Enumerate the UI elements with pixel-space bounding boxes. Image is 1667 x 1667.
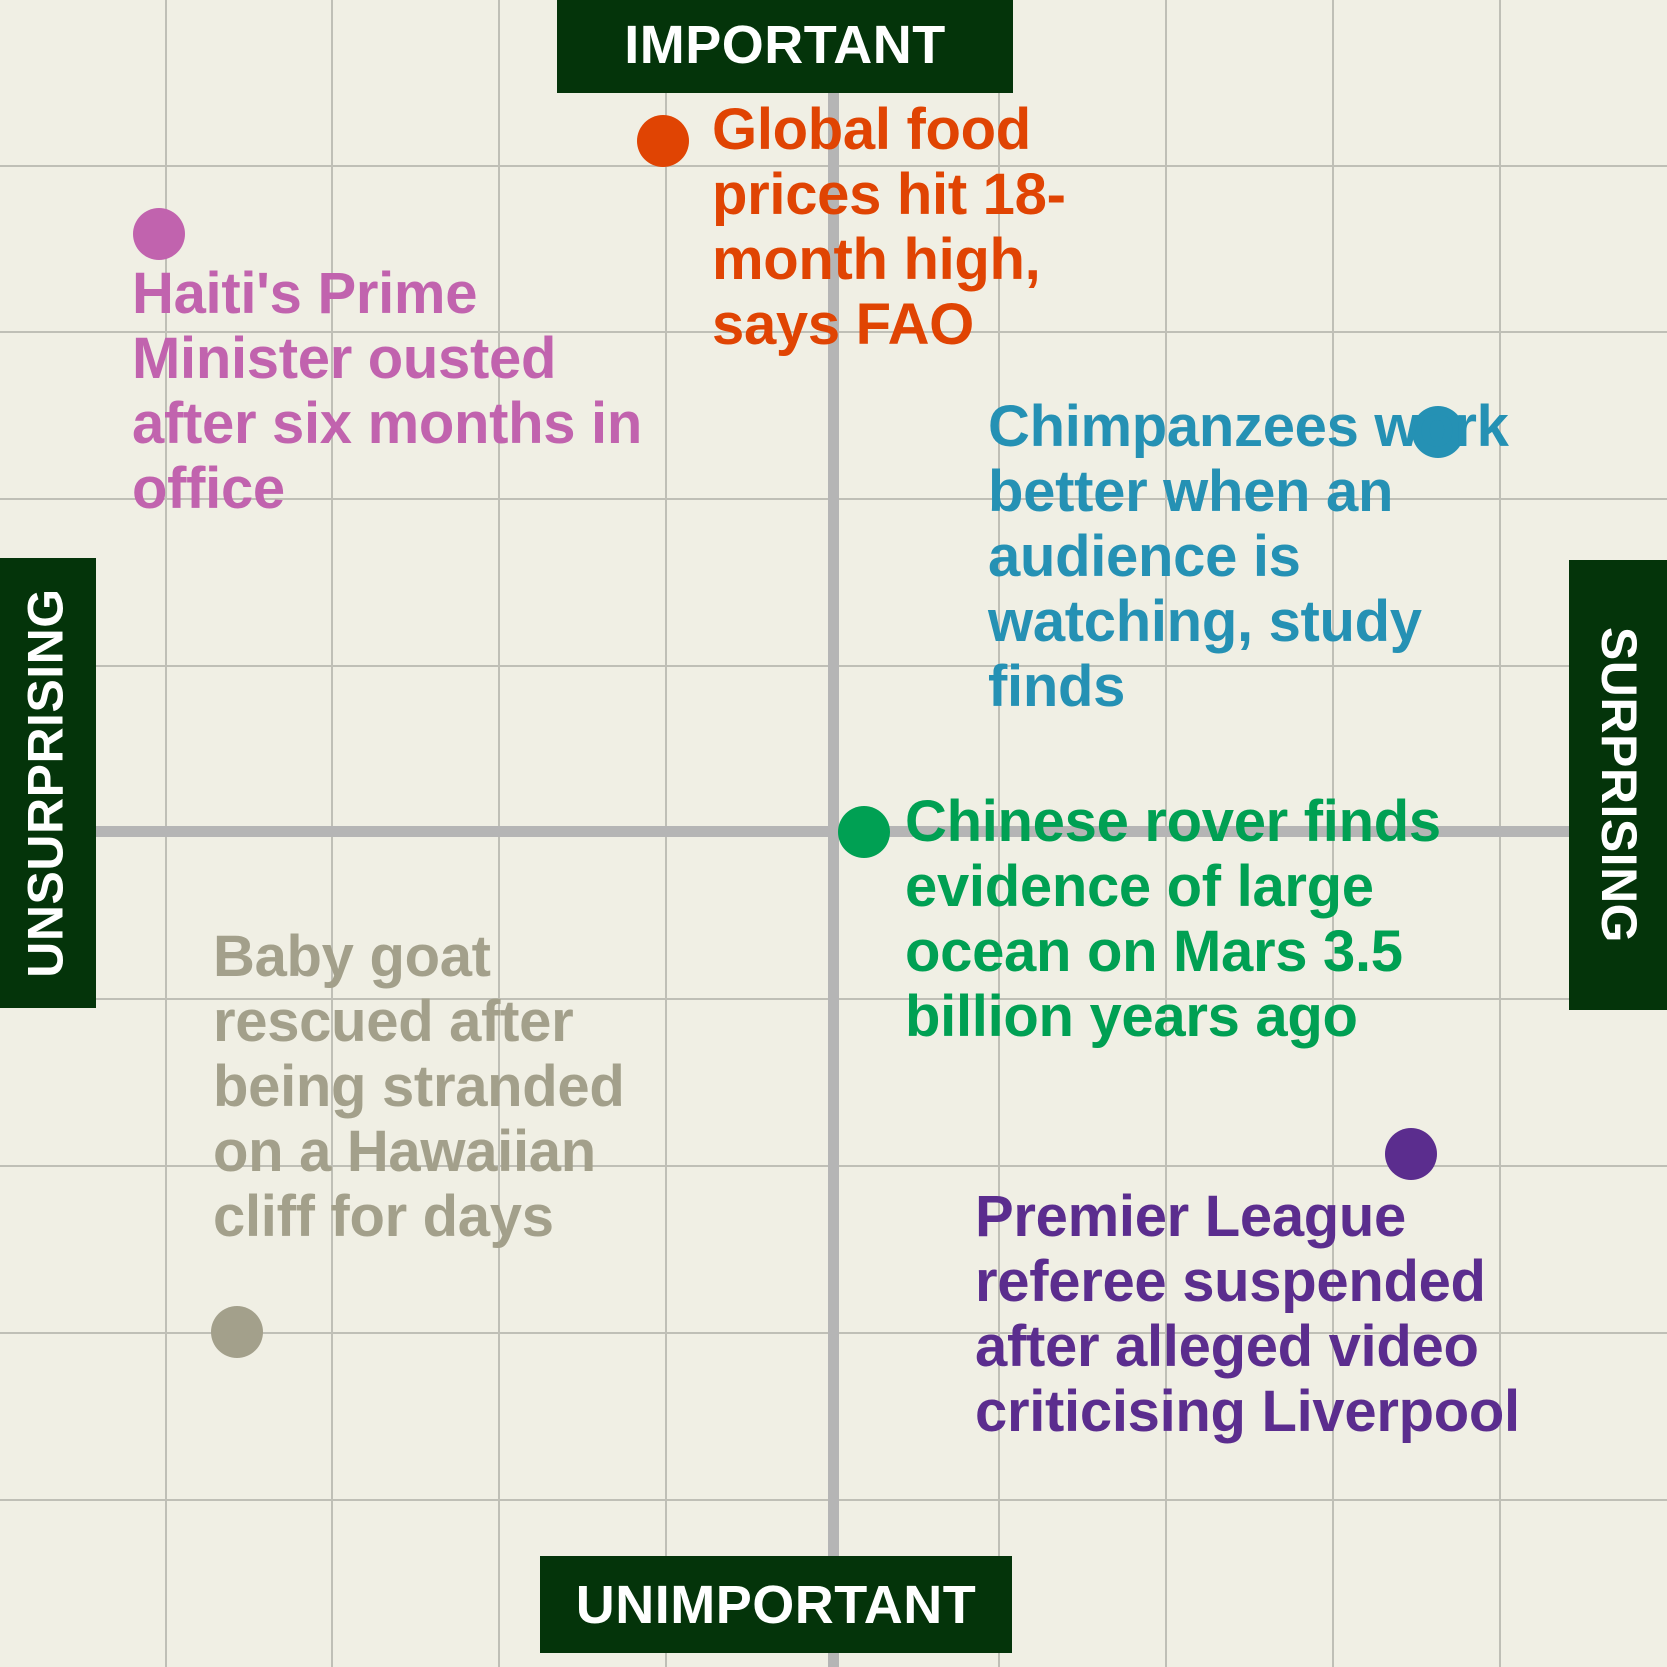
data-point-label-chimpanzees[interactable]: Chimpanzees work better when an audience… bbox=[988, 395, 1528, 720]
headline-text: Premier League referee suspended after a… bbox=[975, 1185, 1585, 1445]
data-point-label-baby-goat[interactable]: Baby goat rescued after being stranded o… bbox=[213, 925, 683, 1250]
gridline-vertical bbox=[498, 0, 500, 1667]
gridline-vertical bbox=[665, 0, 667, 1667]
axis-label-important: IMPORTANT bbox=[557, 0, 1013, 93]
axis-label-unsurprising-text: UNSURPRISING bbox=[21, 588, 71, 977]
gridline-vertical bbox=[331, 0, 333, 1667]
data-point-marker-referee[interactable] bbox=[1385, 1128, 1437, 1180]
axis-label-surprising-text: SURPRISING bbox=[1594, 627, 1644, 943]
axis-label-surprising: SURPRISING bbox=[1569, 560, 1667, 1010]
gridline-horizontal bbox=[0, 1499, 1667, 1501]
data-point-label-haiti[interactable]: Haiti's Prime Minister ousted after six … bbox=[132, 262, 652, 522]
axis-label-unimportant-text: UNIMPORTANT bbox=[576, 1578, 976, 1632]
axis-label-unimportant: UNIMPORTANT bbox=[540, 1556, 1012, 1653]
headline-text: Chimpanzees work better when an audience… bbox=[988, 395, 1528, 720]
data-point-label-referee[interactable]: Premier League referee suspended after a… bbox=[975, 1185, 1585, 1445]
data-point-label-mars-rover[interactable]: Chinese rover finds evidence of large oc… bbox=[905, 790, 1445, 1050]
data-point-label-food[interactable]: Global food prices hit 18-month high, sa… bbox=[712, 98, 1172, 358]
headline-text: Haiti's Prime Minister ousted after six … bbox=[132, 262, 652, 522]
data-point-marker-haiti[interactable] bbox=[133, 208, 185, 260]
headline-text: Chinese rover finds evidence of large oc… bbox=[905, 790, 1445, 1050]
headline-text: Global food prices hit 18-month high, sa… bbox=[712, 98, 1172, 358]
data-point-marker-baby-goat[interactable] bbox=[211, 1306, 263, 1358]
news-quadrant-chart: IMPORTANT UNIMPORTANT UNSURPRISING SURPR… bbox=[0, 0, 1667, 1667]
data-point-marker-food[interactable] bbox=[637, 115, 689, 167]
axis-label-unsurprising: UNSURPRISING bbox=[0, 558, 96, 1008]
axis-label-important-text: IMPORTANT bbox=[624, 18, 945, 72]
headline-text: Baby goat rescued after being stranded o… bbox=[213, 925, 683, 1250]
data-point-marker-mars-rover[interactable] bbox=[838, 806, 890, 858]
